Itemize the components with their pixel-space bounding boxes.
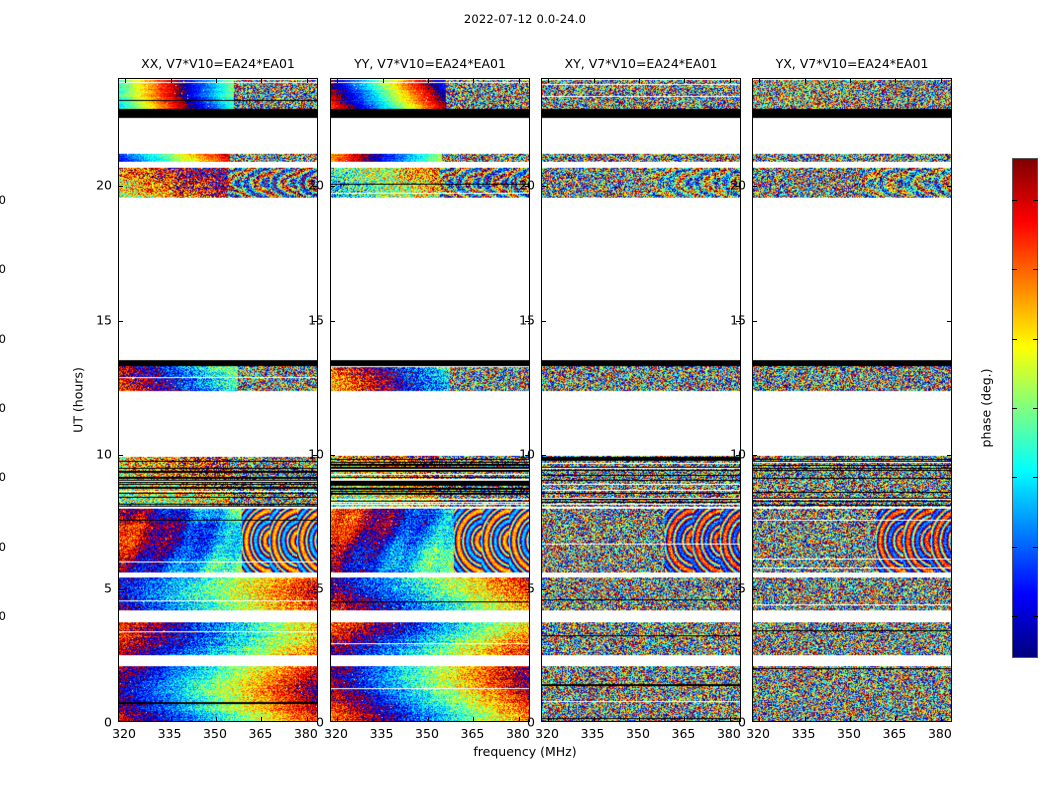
x-tick-label-xy-320: 320 [535, 726, 559, 741]
colorbar-tick-150 [1012, 200, 1017, 201]
y-tick-right-20 [947, 186, 951, 187]
plot-area-yy[interactable] [330, 78, 530, 722]
x-tick-top-365 [684, 79, 685, 83]
x-tick-top-320 [125, 79, 126, 83]
x-tick-top-335 [805, 79, 806, 83]
x-tick-top-365 [473, 79, 474, 83]
y-tick-label-xx-5: 5 [88, 580, 112, 595]
x-tick-350 [428, 717, 429, 721]
colorbar-tick-100 [1012, 269, 1017, 270]
colorbar-tick-right-50 [1033, 339, 1038, 340]
panel-xx[interactable]: XX, V7*V10=EA24*EA01 [118, 78, 318, 722]
x-tick-320 [759, 717, 760, 721]
y-tick-15 [753, 321, 757, 322]
x-tick-top-350 [216, 79, 217, 83]
x-tick-350 [216, 717, 217, 721]
colorbar-label-150: 150 [0, 193, 6, 207]
x-tick-label-yx-365: 365 [882, 726, 906, 741]
y-tick-right-5 [947, 589, 951, 590]
x-tick-320 [548, 717, 549, 721]
x-tick-top-350 [428, 79, 429, 83]
plot-area-xx[interactable] [118, 78, 318, 722]
y-tick-10 [331, 455, 335, 456]
y-tick-20 [331, 186, 335, 187]
y-tick-right-10 [947, 455, 951, 456]
panel-yy[interactable]: YY, V7*V10=EA24*EA01 [330, 78, 530, 722]
y-tick-label-yy-20: 20 [300, 178, 324, 193]
panel-title-xy: XY, V7*V10=EA24*EA01 [565, 56, 718, 71]
y-tick-10 [753, 455, 757, 456]
colorbar-tick-right--150 [1033, 616, 1038, 617]
x-tick-label-yy-365: 365 [460, 726, 484, 741]
x-tick-335 [171, 717, 172, 721]
x-tick-365 [473, 717, 474, 721]
x-tick-top-350 [639, 79, 640, 83]
figure-canvas: 2022-07-12 0.0-24.0 XX, V7*V10=EA24*EA01… [0, 0, 1050, 800]
x-tick-top-380 [307, 79, 308, 83]
x-tick-label-yx-350: 350 [837, 726, 861, 741]
panel-title-yx: YX, V7*V10=EA24*EA01 [776, 56, 929, 71]
y-tick-label-yx-0: 0 [722, 715, 746, 730]
y-tick-label-yx-15: 15 [722, 312, 746, 327]
y-tick-20 [119, 186, 123, 187]
x-tick-top-380 [730, 79, 731, 83]
y-tick-label-yy-10: 10 [300, 446, 324, 461]
y-axis-title: UT (hours) [71, 367, 86, 433]
y-tick-10 [542, 455, 546, 456]
y-tick-10 [119, 455, 123, 456]
x-tick-top-365 [261, 79, 262, 83]
x-axis-title: frequency (MHz) [0, 744, 1050, 759]
colorbar-label--50: -50 [0, 470, 6, 484]
waterfall-image-xx [119, 79, 317, 721]
x-tick-320 [125, 717, 126, 721]
x-tick-365 [261, 717, 262, 721]
colorbar-tick-right-150 [1033, 200, 1038, 201]
x-tick-335 [383, 717, 384, 721]
x-tick-365 [895, 717, 896, 721]
y-tick-15 [542, 321, 546, 322]
x-tick-label-xy-335: 335 [581, 726, 605, 741]
y-tick-label-xy-10: 10 [511, 446, 535, 461]
x-tick-label-yx-320: 320 [746, 726, 770, 741]
y-tick-15 [119, 321, 123, 322]
x-tick-top-380 [941, 79, 942, 83]
colorbar[interactable] [1012, 158, 1038, 658]
y-tick-5 [753, 589, 757, 590]
plot-area-xy[interactable] [541, 78, 741, 722]
colorbar-tick-right-0 [1033, 408, 1038, 409]
waterfall-image-xy [542, 79, 740, 721]
x-tick-top-320 [548, 79, 549, 83]
x-tick-label-xy-365: 365 [671, 726, 695, 741]
waterfall-image-yy [331, 79, 529, 721]
x-tick-380 [941, 717, 942, 721]
colorbar-tick-right--50 [1033, 477, 1038, 478]
colorbar-tick--100 [1012, 547, 1017, 548]
x-tick-label-xx-365: 365 [248, 726, 272, 741]
panel-yx[interactable]: YX, V7*V10=EA24*EA01 [752, 78, 952, 722]
x-tick-top-350 [850, 79, 851, 83]
x-tick-top-365 [895, 79, 896, 83]
x-tick-label-yy-335: 335 [370, 726, 394, 741]
colorbar-tick-right-100 [1033, 269, 1038, 270]
panel-title-yy: YY, V7*V10=EA24*EA01 [354, 56, 506, 71]
panel-title-xx: XX, V7*V10=EA24*EA01 [141, 56, 295, 71]
y-tick-label-xx-0: 0 [88, 715, 112, 730]
x-tick-label-yy-350: 350 [415, 726, 439, 741]
y-tick-label-xx-15: 15 [88, 312, 112, 327]
x-tick-320 [337, 717, 338, 721]
y-tick-5 [331, 589, 335, 590]
x-tick-label-xx-320: 320 [112, 726, 136, 741]
colorbar-label--150: -150 [0, 609, 6, 623]
colorbar-tick--150 [1012, 616, 1017, 617]
x-tick-top-320 [337, 79, 338, 83]
y-tick-15 [331, 321, 335, 322]
y-tick-label-xy-20: 20 [511, 178, 535, 193]
x-tick-label-yy-320: 320 [324, 726, 348, 741]
y-tick-20 [542, 186, 546, 187]
x-tick-top-335 [594, 79, 595, 83]
x-tick-label-yx-335: 335 [792, 726, 816, 741]
y-tick-label-xy-5: 5 [511, 580, 535, 595]
x-tick-top-335 [171, 79, 172, 83]
colorbar-tick-0 [1012, 408, 1017, 409]
x-tick-top-380 [519, 79, 520, 83]
x-tick-label-xx-335: 335 [158, 726, 182, 741]
x-tick-top-320 [759, 79, 760, 83]
x-tick-label-xy-350: 350 [626, 726, 650, 741]
y-tick-label-yy-0: 0 [300, 715, 324, 730]
x-tick-label-xx-350: 350 [203, 726, 227, 741]
colorbar-tick-right--100 [1033, 547, 1038, 548]
y-tick-label-yx-5: 5 [722, 580, 746, 595]
y-tick-label-xx-20: 20 [88, 178, 112, 193]
x-tick-350 [639, 717, 640, 721]
y-tick-label-yx-20: 20 [722, 178, 746, 193]
colorbar-label-0: 0 [0, 401, 6, 415]
figure-suptitle: 2022-07-12 0.0-24.0 [0, 12, 1050, 26]
waterfall-image-yx [753, 79, 951, 721]
y-tick-label-xy-0: 0 [511, 715, 535, 730]
y-tick-label-yy-5: 5 [300, 580, 324, 595]
plot-area-yx[interactable] [752, 78, 952, 722]
colorbar-label-100: 100 [0, 262, 6, 276]
colorbar-tick-50 [1012, 339, 1017, 340]
y-tick-5 [542, 589, 546, 590]
y-tick-20 [753, 186, 757, 187]
y-tick-right-15 [947, 321, 951, 322]
y-tick-label-yy-15: 15 [300, 312, 324, 327]
x-tick-350 [850, 717, 851, 721]
colorbar-label--100: -100 [0, 540, 6, 554]
x-tick-365 [684, 717, 685, 721]
y-tick-label-yx-10: 10 [722, 446, 746, 461]
y-tick-5 [119, 589, 123, 590]
x-tick-335 [805, 717, 806, 721]
panel-xy[interactable]: XY, V7*V10=EA24*EA01 [541, 78, 741, 722]
x-tick-335 [594, 717, 595, 721]
colorbar-label-50: 50 [0, 332, 6, 346]
x-tick-top-335 [383, 79, 384, 83]
colorbar-tick--50 [1012, 477, 1017, 478]
y-tick-label-xx-10: 10 [88, 446, 112, 461]
colorbar-title: phase (deg.) [979, 369, 994, 448]
x-tick-label-yx-380: 380 [928, 726, 952, 741]
y-tick-label-xy-15: 15 [511, 312, 535, 327]
